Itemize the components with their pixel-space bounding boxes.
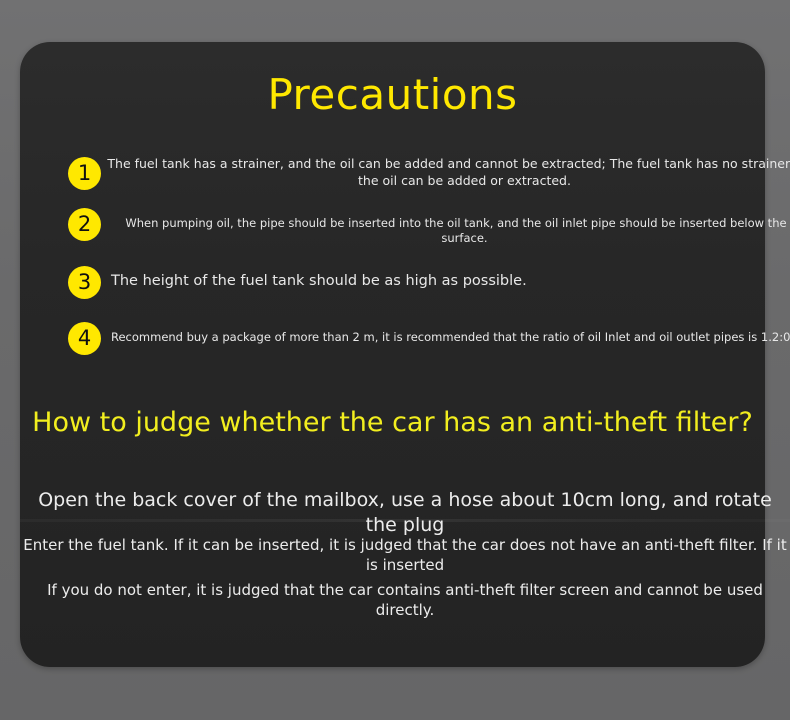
precaution-text-3: The height of the fuel tank should be as…: [101, 266, 790, 291]
item-number-badge-4: 4: [68, 322, 101, 355]
precaution-item-4: 4 Recommend buy a package of more than 2…: [68, 322, 790, 345]
item-number-badge-2: 2: [68, 208, 101, 241]
section-subheading: How to judge whether the car has an anti…: [20, 407, 765, 439]
precaution-text-1: The fuel tank has a strainer, and the oi…: [101, 154, 790, 189]
card-content: Precautions 1 The fuel tank has a strain…: [20, 42, 765, 667]
instruction-paragraph-2: Enter the fuel tank. If it can be insert…: [20, 536, 790, 575]
instruction-paragraph-3: If you do not enter, it is judged that t…: [20, 581, 790, 620]
precaution-item-2: 2 When pumping oil, the pipe should be i…: [68, 208, 790, 246]
precaution-item-1: 1 The fuel tank has a strainer, and the …: [68, 154, 790, 189]
precaution-text-4: Recommend buy a package of more than 2 m…: [101, 322, 790, 345]
precaution-item-3: 3 The height of the fuel tank should be …: [68, 266, 790, 291]
instruction-paragraph-1: Open the back cover of the mailbox, use …: [20, 488, 790, 537]
page-root: Precautions 1 The fuel tank has a strain…: [0, 0, 790, 720]
item-number-badge-3: 3: [68, 266, 101, 299]
page-title: Precautions: [20, 72, 765, 118]
precaution-text-2: When pumping oil, the pipe should be ins…: [101, 208, 790, 246]
section-divider: [20, 519, 790, 522]
precautions-card: Precautions 1 The fuel tank has a strain…: [20, 42, 765, 667]
item-number-badge-1: 1: [68, 157, 101, 190]
